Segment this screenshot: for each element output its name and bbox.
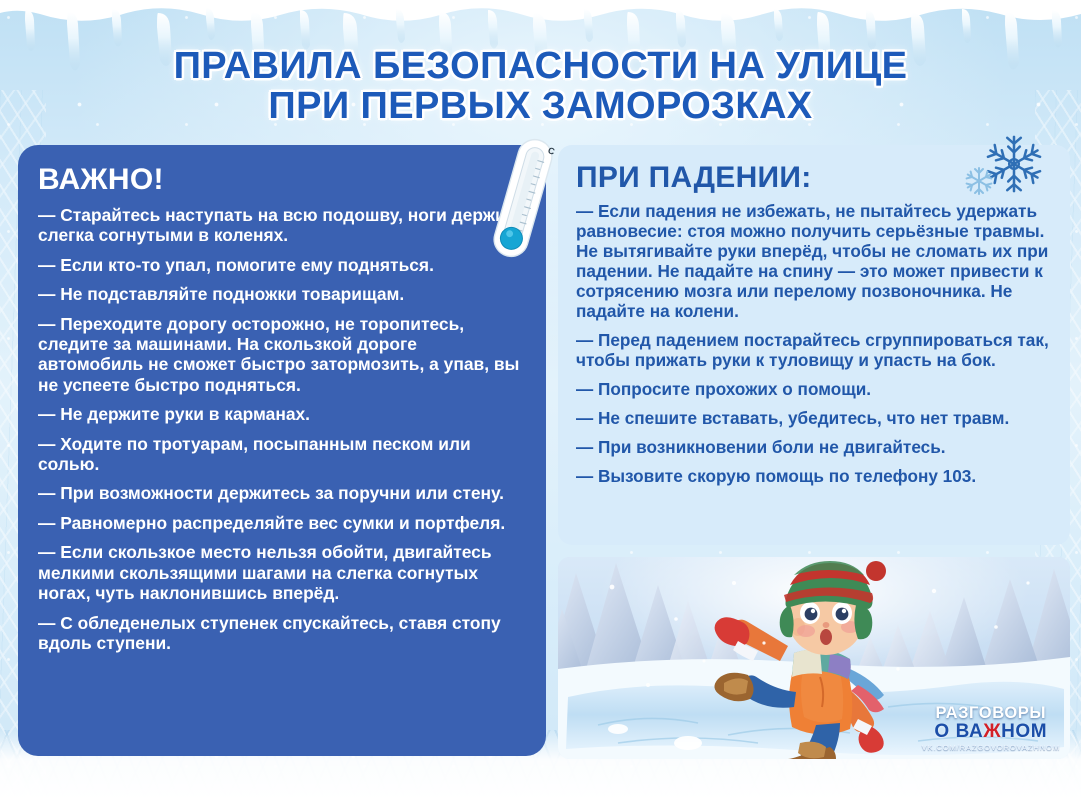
important-rules-panel: ВАЖНО! — Старайтесь наступать на всю под… <box>18 145 546 756</box>
page-title: ПРАВИЛА БЕЗОПАСНОСТИ НА УЛИЦЕ ПРИ ПЕРВЫХ… <box>0 46 1081 126</box>
logo-url: VK.COM/RAZGOVOROVAZHNOM <box>922 742 1060 753</box>
falling-item: — Если падения не избежать, не пытайтесь… <box>576 201 1052 321</box>
logo-line-2-a: О ВА <box>934 721 983 742</box>
title-line-1: ПРАВИЛА БЕЗОПАСНОСТИ НА УЛИЦЕ <box>0 46 1081 86</box>
poster-root: ПРАВИЛА БЕЗОПАСНОСТИ НА УЛИЦЕ ПРИ ПЕРВЫХ… <box>0 0 1081 800</box>
thermometer-scale-label: C <box>547 145 556 157</box>
falling-item: — Попросите прохожих о помощи. <box>576 379 1052 399</box>
rule-item: — Переходите дорогу осторожно, не торопи… <box>38 314 526 396</box>
logo-line-1: РАЗГОВОРЫ <box>922 705 1060 722</box>
rule-item: — Равномерно распределяйте вес сумки и п… <box>38 513 526 533</box>
rule-item: — Если скользкое место нельзя обойти, дв… <box>38 542 526 603</box>
rule-item: — Не подставляйте подножки товарищам. <box>38 284 526 304</box>
title-line-2: ПРИ ПЕРВЫХ ЗАМОРОЗКАХ <box>0 86 1081 126</box>
rule-item: — Если кто-то упал, помогите ему поднять… <box>38 255 526 275</box>
rule-item: — Не держите руки в карманах. <box>38 404 526 424</box>
falling-item: — Не спешите вставать, убедитесь, что не… <box>576 408 1052 428</box>
falling-item: — Вызовите скорую помощь по телефону 103… <box>576 466 1052 486</box>
rule-item: — Ходите по тротуарам, посыпанным песком… <box>38 434 526 475</box>
child-slipping-on-ice-illustration: РАЗГОВОРЫ О ВАЖНОМ VK.COM/RAZGOVOROVAZHN… <box>558 557 1070 759</box>
snowflake-icon <box>963 165 995 197</box>
falling-item: — При возникновении боли не двигайтесь. <box>576 437 1052 457</box>
rule-item: — С обледенелых ступенек спускайтесь, ст… <box>38 613 526 654</box>
logo-line-2: О ВАЖНОМ <box>922 722 1060 742</box>
rule-item: — При возможности держитесь за поручни и… <box>38 483 526 503</box>
rule-item: — Старайтесь наступать на всю подошву, н… <box>38 205 526 246</box>
important-panel-heading: ВАЖНО! <box>38 163 526 197</box>
when-falling-panel: ПРИ ПАДЕНИИ: — Если падения не избежать,… <box>558 145 1070 545</box>
logo-line-2-b: Ж <box>983 721 1001 742</box>
falling-item: — Перед падением постарайтесь сгруппиров… <box>576 330 1052 370</box>
logo-line-2-c: НОМ <box>1001 721 1047 742</box>
razgovory-o-vazhnom-logo[interactable]: РАЗГОВОРЫ О ВАЖНОМ VK.COM/RAZGOVOROVAZHN… <box>922 705 1060 753</box>
